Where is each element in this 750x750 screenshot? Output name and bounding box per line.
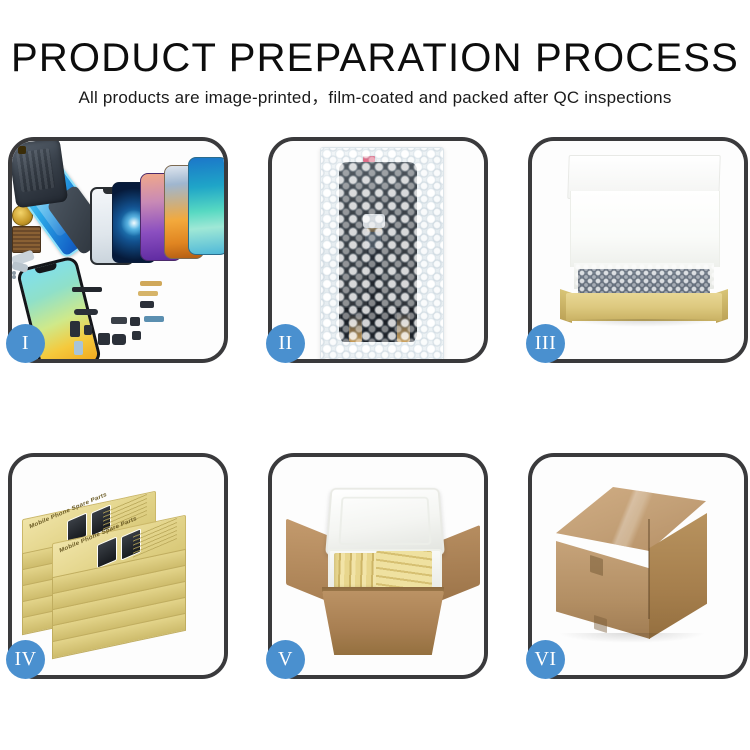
carton-front-face-icon: [322, 591, 444, 655]
step-badge-2: II: [266, 324, 305, 363]
carton-flap-tab-icon: [594, 615, 607, 633]
box-inner-wall-icon: [570, 191, 720, 267]
small-component-icon: [130, 317, 140, 326]
small-component-icon: [132, 331, 141, 340]
process-step-panel-4: Mobile Phone Spare Parts Mobile Phone Sp…: [8, 453, 228, 679]
retail-box-stack-front: Mobile Phone Spare Parts: [52, 529, 186, 645]
connector-icon: [365, 232, 381, 248]
flex-cable-icon: [140, 281, 162, 286]
antenna-strip-icon: [72, 287, 102, 292]
flex-tail-left-icon: [349, 314, 362, 342]
step-badge-5: V: [266, 640, 305, 679]
screw-icon: [12, 275, 16, 279]
product-preparation-process-infographic: PRODUCT PREPARATION PROCESS All products…: [0, 0, 750, 750]
process-step-panel-1: I: [8, 137, 228, 363]
process-step-panel-6: VI: [528, 453, 748, 679]
flex-cable-icon: [138, 291, 158, 296]
sim-tray-icon: [74, 341, 83, 355]
connector-icon: [363, 214, 385, 228]
process-step-panel-3: III: [528, 137, 748, 363]
page-title: PRODUCT PREPARATION PROCESS: [0, 35, 750, 81]
foam-lid-icon: [325, 488, 445, 555]
step-badge-4: IV: [6, 640, 45, 679]
small-component-icon: [98, 333, 110, 345]
step-badge-6: VI: [526, 640, 565, 679]
process-step-grid: I II: [0, 137, 750, 697]
small-component-icon: [70, 321, 80, 337]
gold-retail-boxes-row-icon: [376, 551, 432, 591]
header: PRODUCT PREPARATION PROCESS All products…: [0, 0, 750, 109]
drop-shadow: [568, 319, 720, 327]
step-badge-3: III: [526, 324, 565, 363]
chip-array-icon: [12, 226, 41, 253]
step-4-image: Mobile Phone Spare Parts Mobile Phone Sp…: [12, 457, 224, 675]
flex-cable-icon: [144, 316, 164, 322]
drop-shadow: [558, 633, 706, 643]
carton-vertical-seam: [648, 519, 650, 619]
speaker-module-icon: [112, 334, 126, 345]
process-step-panel-2: II: [268, 137, 488, 363]
flex-cable-icon: [111, 317, 127, 324]
step-2-image: [272, 141, 484, 359]
step-3-image: [532, 141, 744, 359]
bubble-wrap-bag-icon: [320, 147, 444, 359]
flex-tail-right-icon: [397, 312, 410, 342]
flex-cable-icon: [74, 309, 98, 315]
kraft-tray-front-icon: [566, 293, 722, 321]
small-component-icon: [84, 325, 92, 335]
step-6-image: [532, 457, 744, 675]
step-1-image: [12, 141, 224, 359]
phone-screen-teal-icon: [188, 157, 224, 255]
step-5-image: [272, 457, 484, 675]
qc-sticker-icon: [363, 156, 375, 162]
page-subtitle: All products are image-printed，film-coat…: [0, 87, 750, 109]
process-step-panel-5: V: [268, 453, 488, 679]
step-badge-1: I: [6, 324, 45, 363]
connector-icon: [140, 301, 154, 308]
